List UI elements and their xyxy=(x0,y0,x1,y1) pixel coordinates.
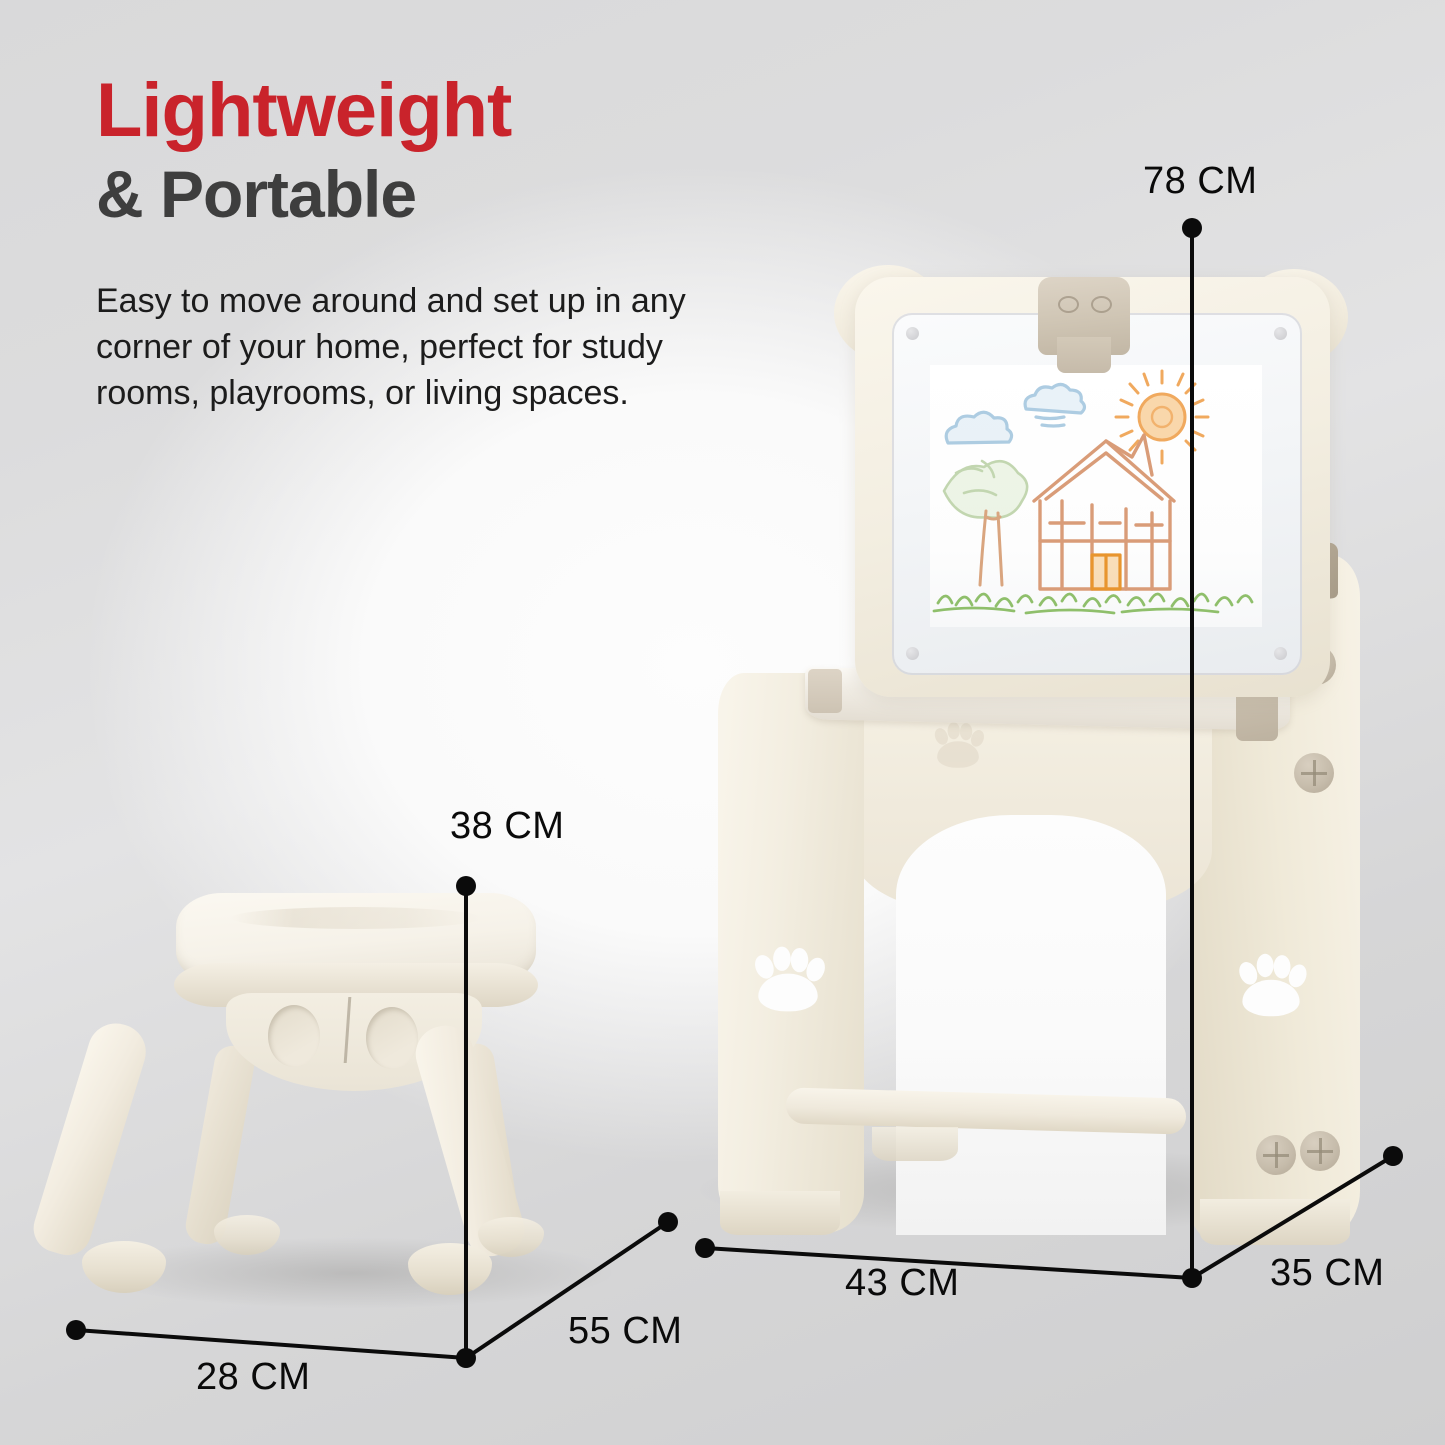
screw-cap-5 xyxy=(1256,1135,1296,1175)
stool-leg-front-left xyxy=(28,1017,153,1262)
board-drawing-surface xyxy=(930,365,1262,627)
board-screw-bl xyxy=(906,647,919,660)
dimension-dot-stool-left xyxy=(66,1320,86,1340)
dimension-label-desk-depth: 35 CM xyxy=(1270,1252,1384,1295)
desk-foot-center xyxy=(872,1127,958,1161)
headline-line-2: & Portable xyxy=(96,156,796,234)
stool-foot-back-left xyxy=(214,1215,280,1255)
dimension-dot-desk-top xyxy=(1182,218,1202,238)
board-screw-tl xyxy=(906,327,919,340)
dimline-stool-width xyxy=(76,1330,466,1358)
copy-block: Lightweight & Portable Easy to move arou… xyxy=(96,72,796,417)
dimension-label-stool-depth: 55 CM xyxy=(568,1310,682,1353)
screw-cap-6 xyxy=(1300,1131,1340,1171)
product-easel-desk xyxy=(700,255,1380,1280)
dimension-dot-desk-depth xyxy=(1383,1146,1403,1166)
stool-foot-front-left xyxy=(82,1241,166,1293)
stool-recess-left xyxy=(268,1005,320,1067)
stool-foot-front-right xyxy=(408,1243,492,1295)
screw-cap-2 xyxy=(1294,753,1334,793)
product-stool xyxy=(78,885,653,1305)
dimension-dot-stool-top xyxy=(456,876,476,896)
infographic-canvas: Lightweight & Portable Easy to move arou… xyxy=(0,0,1445,1445)
dimension-dot-stool-bottom xyxy=(456,1348,476,1368)
desk-foot-left xyxy=(720,1191,840,1235)
body-paragraph: Easy to move around and set up in any co… xyxy=(96,279,766,417)
dimension-label-desk-width: 43 CM xyxy=(845,1262,959,1305)
paw-print-icon-right xyxy=(1237,954,1305,1016)
paw-print-icon-embossed xyxy=(933,722,982,768)
stool-recess-right xyxy=(366,1007,418,1069)
paw-print-icon-left xyxy=(753,947,823,1012)
dimension-label-stool-height: 38 CM xyxy=(450,805,564,848)
dimension-label-desk-height: 78 CM xyxy=(1143,160,1257,203)
board-top-clip-tab xyxy=(1057,337,1111,373)
childs-drawing-illustration xyxy=(930,365,1262,627)
desk-leg-opening xyxy=(896,815,1166,1235)
dimension-dot-desk-bottom xyxy=(1182,1268,1202,1288)
dimension-dot-desk-left xyxy=(695,1238,715,1258)
board-screw-br xyxy=(1274,647,1287,660)
board-screw-tr xyxy=(1274,327,1287,340)
dimension-label-stool-width: 28 CM xyxy=(196,1356,310,1399)
pen-tray-notch xyxy=(808,669,842,713)
dimension-dot-stool-depth xyxy=(658,1212,678,1232)
headline-line-1: Lightweight xyxy=(96,72,796,150)
desk-foot-right xyxy=(1200,1199,1350,1245)
